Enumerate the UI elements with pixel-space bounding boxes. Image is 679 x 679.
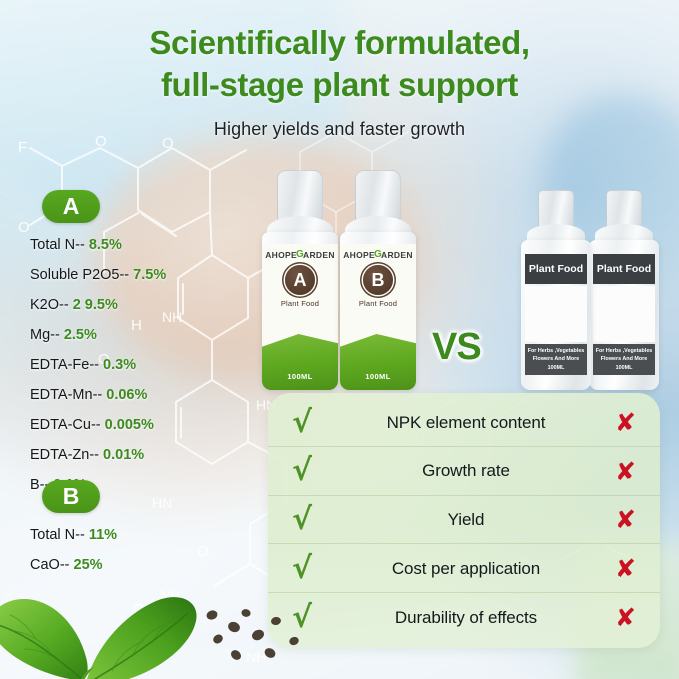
comparison-label: Growth rate [326,461,606,481]
check-icon: √ [292,554,326,584]
competitor-desc-line1: For Herbs ,Vegetables [527,347,585,355]
spec-name: EDTA-Zn-- [30,447,99,463]
bottle-subtitle: Plant Food [359,299,397,308]
spec-row: EDTA-Cu-- 0.005% [30,417,166,433]
bottle-cap [277,170,323,222]
table-row: √ Durability of effects ✘ [268,594,660,642]
spec-name: K2O-- [30,297,69,313]
check-icon: √ [292,456,326,486]
competitor-volume: 100ML [595,364,653,372]
comparison-label: Cost per application [326,559,606,579]
spec-name: Total N-- [30,527,85,543]
comparison-label: Durability of effects [326,608,606,628]
seeds-image [196,597,316,667]
spec-name: Total N-- [30,237,85,253]
badge-b: B [42,480,100,513]
competitor-footer: For Herbs ,Vegetables Flowers And More 1… [593,344,655,375]
spec-value: 0.01% [103,447,144,463]
check-icon: √ [292,408,326,438]
page-title: Scientifically formulated, full-stage pl… [0,22,679,105]
cross-icon: ✘ [606,507,636,532]
leaf-left [0,599,88,679]
bottle-subtitle: Plant Food [281,299,319,308]
spec-value: 7.5% [133,267,166,283]
bottle-body: AHOPEGARDEN B Plant Food 100ML [340,232,416,390]
check-icon: √ [292,505,326,535]
seal-badge-a: A [285,265,315,295]
bottle-body: AHOPEGARDEN A Plant Food 100ML [262,232,338,390]
headline-line-2: full-stage plant support [0,64,679,106]
bottle-volume: 100ML [287,372,312,381]
spec-value: 0.005% [105,417,154,433]
brand-text-end: ARDEN [303,250,335,260]
bottle-cap [355,170,401,222]
spec-value: 2.5% [64,327,97,343]
bottle-body: Plant Food For Herbs ,Vegetables Flowers… [589,240,659,390]
product-bottle-a: AHOPEGARDEN A Plant Food 100ML [262,170,338,390]
spec-group-a: A Total N-- 8.5% Soluble P2O5-- 7.5% K2O… [30,190,166,493]
spec-row: EDTA-Mn-- 0.06% [30,387,166,403]
vs-label: VS [432,326,481,369]
spec-value: 2 9.5% [73,297,118,313]
competitor-blank-area [593,286,655,342]
headline-line-1: Scientifically formulated, [0,22,679,64]
spec-name: EDTA-Cu-- [30,417,101,433]
competitor-desc-line2: Flowers And More [527,355,585,363]
competitor-bottle-2: Plant Food For Herbs ,Vegetables Flowers… [589,190,659,390]
spec-value: 8.5% [89,237,122,253]
bottle-label: AHOPEGARDEN B Plant Food 100ML [340,244,416,390]
competitor-footer: For Herbs ,Vegetables Flowers And More 1… [525,344,587,375]
brand-logo: AHOPEGARDEN [343,249,413,260]
table-row: √ Yield ✘ [268,496,660,544]
product-bottle-b: AHOPEGARDEN B Plant Food 100ML [340,170,416,390]
spec-row: Mg-- 2.5% [30,327,166,343]
spec-name: Soluble P2O5-- [30,267,129,283]
brand-text-start: AHOPE [343,250,375,260]
comparison-label: NPK element content [326,413,606,433]
spec-value: 0.3% [103,357,136,373]
spec-value: 11% [89,527,117,543]
cross-icon: ✘ [606,556,636,581]
bottle-volume: 100ML [365,372,390,381]
cross-icon: ✘ [606,459,636,484]
label-green-band: 100ML [262,332,338,390]
leaf-right [86,597,197,679]
competitor-title: Plant Food [525,254,587,284]
label-green-band: 100ML [340,332,416,390]
spec-row: K2O-- 2 9.5% [30,297,166,313]
competitor-title: Plant Food [593,254,655,284]
infographic-canvas: F O O O H NH O HN HN O O NH NH Scientifi… [0,0,679,679]
brand-text-start: AHOPE [265,250,297,260]
spec-name: EDTA-Fe-- [30,357,99,373]
spec-name: Mg-- [30,327,60,343]
spec-name: EDTA-Mn-- [30,387,102,403]
table-row: √ Growth rate ✘ [268,448,660,496]
spec-row: Total N-- 8.5% [30,237,166,253]
subtitle: Higher yields and faster growth [0,119,679,140]
table-row: √ NPK element content ✘ [268,399,660,447]
seal-badge-b: B [363,265,393,295]
cross-icon: ✘ [606,410,636,435]
competitor-desc-line1: For Herbs ,Vegetables [595,347,653,355]
cross-icon: ✘ [606,605,636,630]
competitor-volume: 100ML [527,364,585,372]
bottle-body: Plant Food For Herbs ,Vegetables Flowers… [521,240,591,390]
badge-a: A [42,190,100,223]
brand-text-end: ARDEN [381,250,413,260]
table-row: √ Cost per application ✘ [268,545,660,593]
spec-row: EDTA-Fe-- 0.3% [30,357,166,373]
comparison-table: √ NPK element content ✘ √ Growth rate ✘ … [268,393,660,648]
bottle-label: AHOPEGARDEN A Plant Food 100ML [262,244,338,390]
competitor-bottle-1: Plant Food For Herbs ,Vegetables Flowers… [521,190,591,390]
spec-value: 0.06% [106,387,147,403]
spec-row: EDTA-Zn-- 0.01% [30,447,166,463]
spec-row: Soluble P2O5-- 7.5% [30,267,166,283]
brand-logo: AHOPEGARDEN [265,249,335,260]
spec-row: Total N-- 11% [30,527,117,543]
competitor-blank-area [525,286,587,342]
competitor-desc-line2: Flowers And More [595,355,653,363]
comparison-label: Yield [326,510,606,530]
